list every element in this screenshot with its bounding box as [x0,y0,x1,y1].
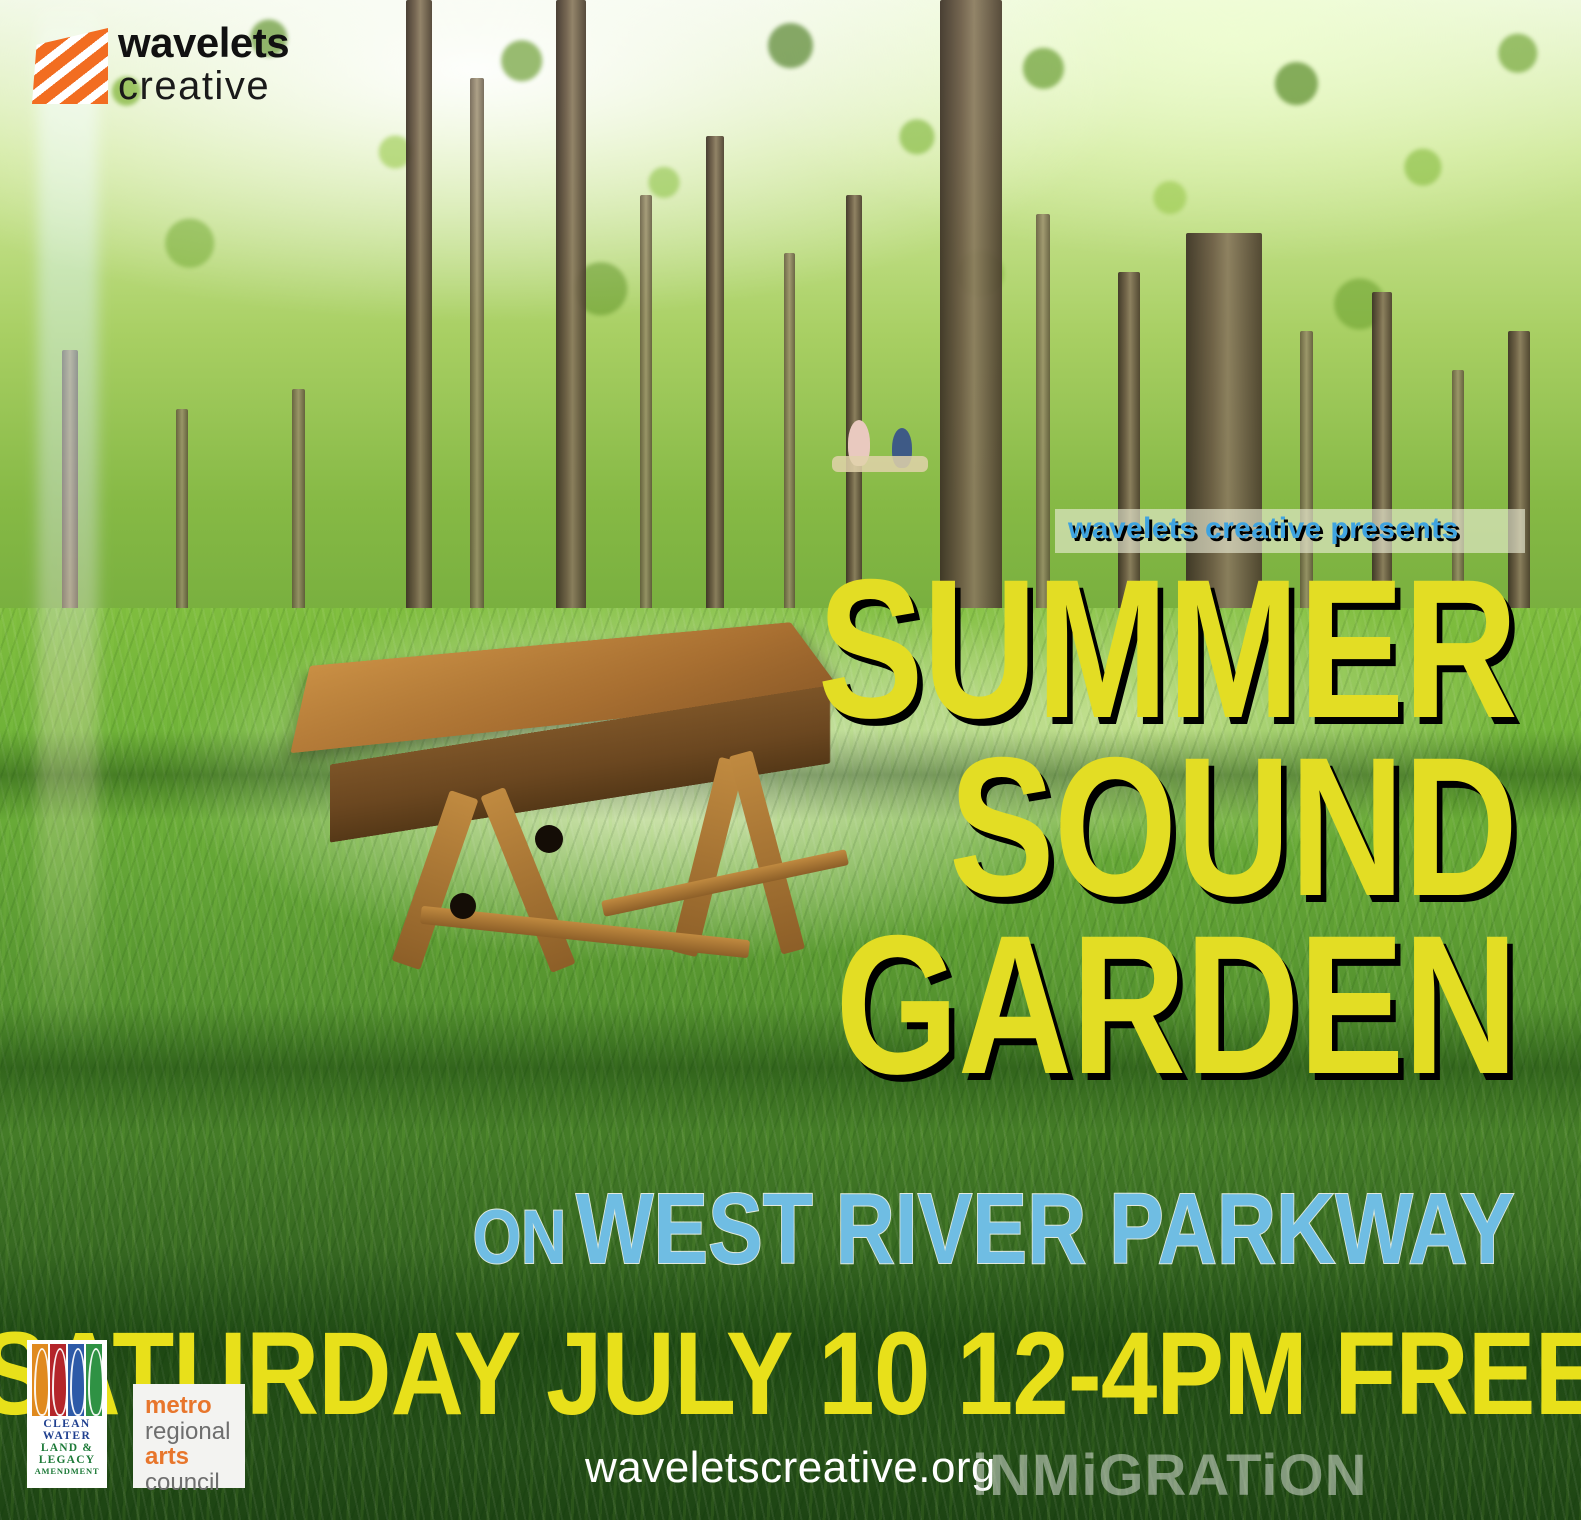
treble-clef-icon [50,1344,66,1416]
venue-name: WEST RIVER PARKWAY [576,1173,1515,1285]
title-line-summer: SUMMER [818,562,1517,736]
title-line-sound: SOUND [949,740,1517,914]
wavelets-logo-wordmark: wavelets creative [118,22,289,107]
wavelets-wave-mark-icon [32,28,108,104]
wavelets-logo-line2: creative [118,65,289,107]
wooden-bench-sculpture [300,575,860,1005]
cw-line5: AMENDMENT [32,1467,102,1476]
pine-trees-icon [86,1344,102,1416]
title-line-garden: GARDEN [835,918,1517,1092]
metro-regional-arts-council-logo: metro regional arts council [133,1384,245,1488]
mrac-line3: arts [145,1444,245,1470]
prairie-sun-icon [32,1344,48,1416]
clean-water-color-bars [32,1344,102,1416]
lens-flare-streak [38,0,98,1050]
venue-prefix: ON [473,1195,566,1280]
clean-water-land-legacy-logo: CLEAN WATER LAND & LEGACY AMENDMENT [27,1340,107,1488]
website-url[interactable]: waveletscreative.org [585,1443,996,1493]
mrac-line1: metro [145,1393,245,1419]
poster-canvas: wavelets creative presents SUMMER SOUND … [0,0,1581,1520]
mrac-line2: regional [145,1419,245,1445]
venue-line: ONWEST RIVER PARKWAY [473,1172,1515,1287]
inmigration-watermark: iNMiGRATiON [972,1442,1368,1509]
wavelets-creative-logo: wavelets creative [32,22,332,112]
wavelets-logo-line1: wavelets [118,22,289,65]
clean-water-wordmark: CLEAN WATER LAND & LEGACY AMENDMENT [32,1419,102,1476]
fish-water-icon [68,1344,84,1416]
mrac-line4: council [145,1470,245,1496]
